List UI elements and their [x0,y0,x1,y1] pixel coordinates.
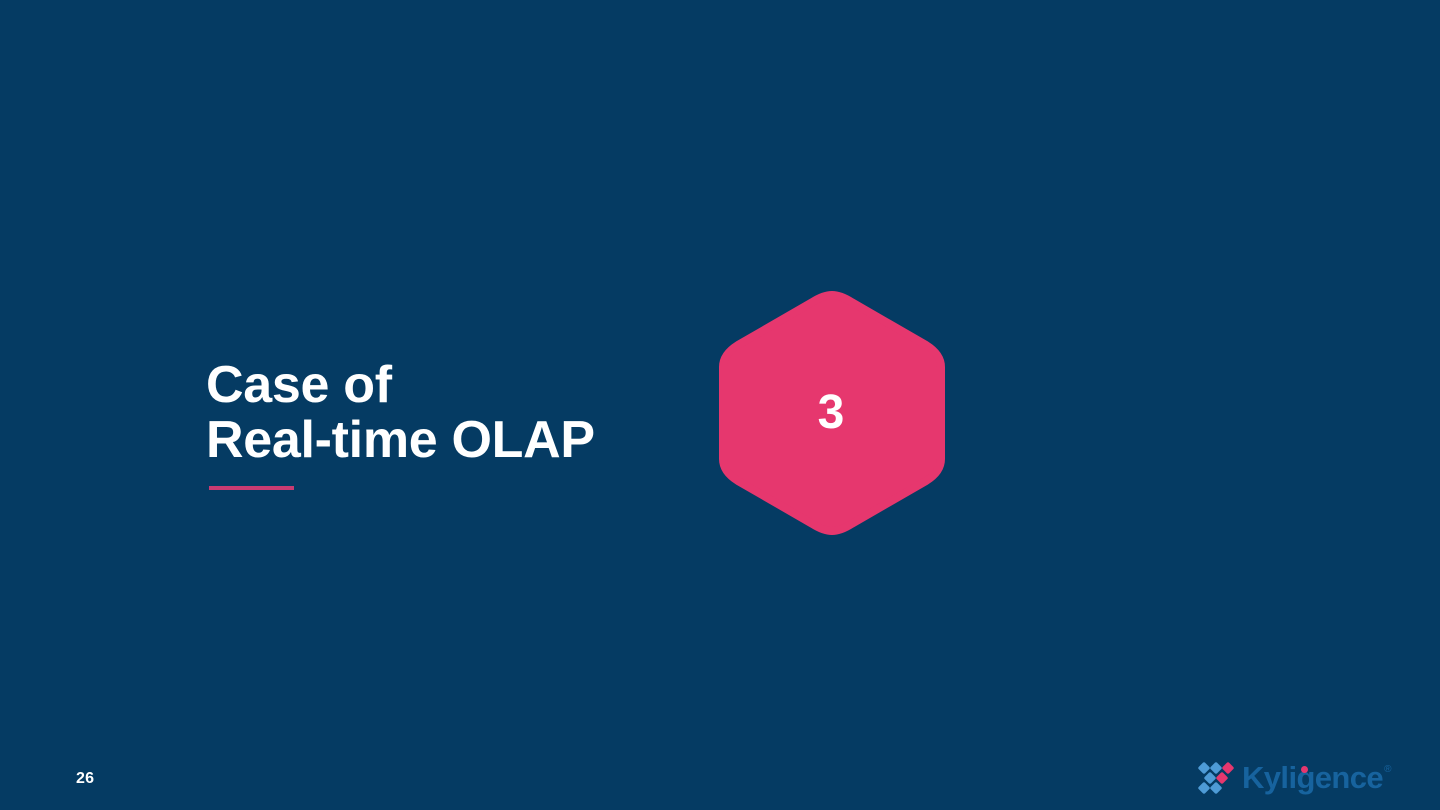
page-number: 26 [76,770,94,788]
kyligence-diamond-grid-icon [1196,761,1240,795]
brand-logo: Kyligence ® [1196,758,1391,798]
title-line-1: Case of [206,358,595,413]
section-number: 3 [719,291,945,535]
logo-trademark: ® [1384,764,1391,776]
slide-canvas: Case of Real-time OLAP 3 26 [0,0,1440,810]
logo-i-dot-icon [1301,766,1308,773]
page-title: Case of Real-time OLAP [206,358,595,490]
logo-wordmark: Kyligence [1242,761,1383,795]
logo-wordmark-wrap: Kyligence ® [1242,761,1391,795]
section-number-hexagon: 3 [719,291,945,535]
title-line-2: Real-time OLAP [206,413,595,468]
title-underline-accent [209,486,294,490]
